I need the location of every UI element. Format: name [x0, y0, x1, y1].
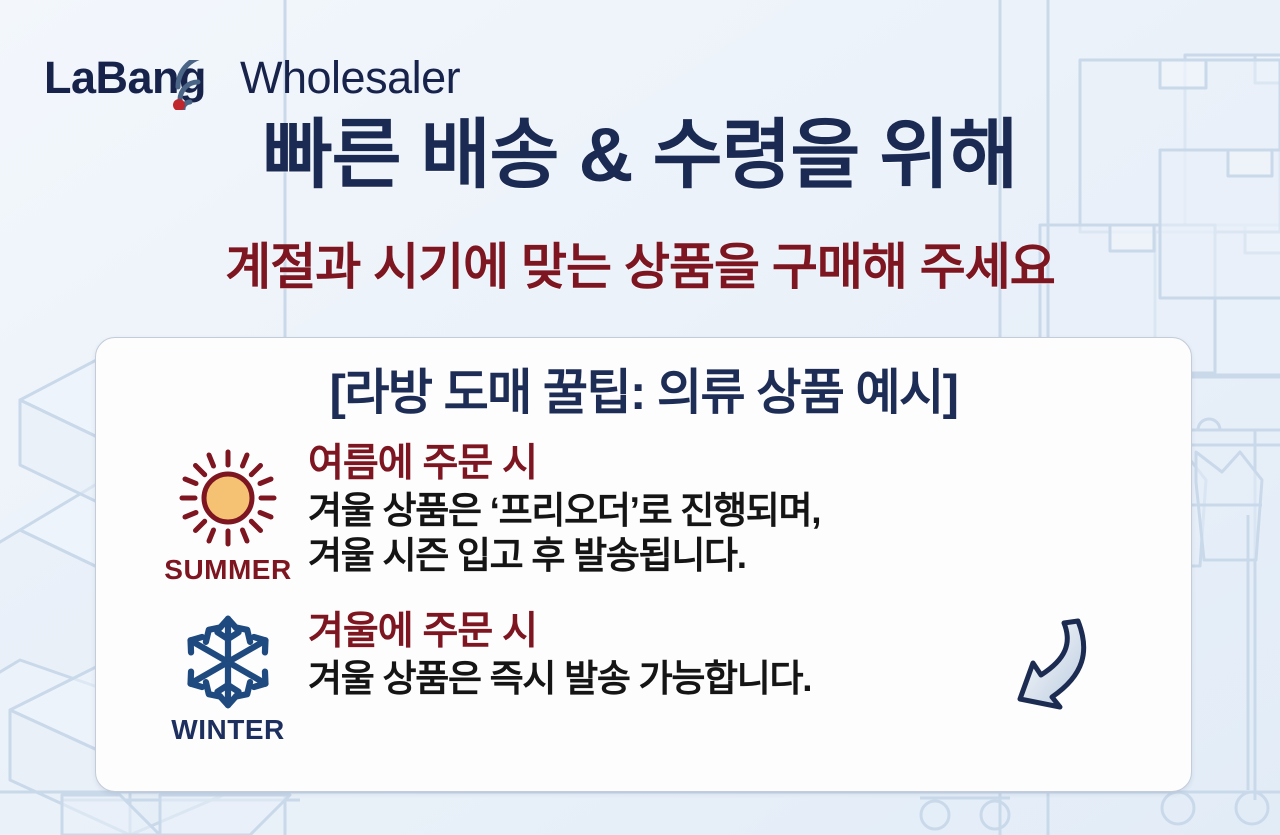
season-badge-winter: WINTER: [148, 608, 308, 744]
carton-row-top: [1040, 55, 1280, 375]
card-title: [라방 도매 꿀팁: 의류 상품 예시]: [96, 369, 1191, 418]
bottom-cart: [62, 798, 1010, 829]
brand-logo[interactable]: LaBangWholesaler: [44, 40, 460, 100]
season-text-summer: 겨울 상품은 ‘프리오더’로 진행되며, 겨울 시즌 입고 후 발송됩니다.: [308, 488, 820, 578]
snowflake-icon: [180, 614, 276, 710]
season-heading-winter: 겨울에 주문 시: [308, 610, 811, 654]
brand-name-light: Wholesaler: [240, 52, 460, 103]
curved-arrow-down-left-icon: [1010, 615, 1100, 720]
season-text-summer-line-2: 겨울 시즌 입고 후 발송됩니다.: [308, 533, 820, 578]
season-body-summer: 여름에 주문 시 겨울 상품은 ‘프리오더’로 진행되며, 겨울 시즌 입고 후…: [308, 440, 820, 578]
season-badge-summer: SUMMER: [148, 440, 308, 584]
season-label-winter: WINTER: [171, 716, 284, 744]
sun-icon: [176, 446, 280, 550]
season-label-summer: SUMMER: [164, 556, 291, 584]
season-body-winter: 겨울에 주문 시 겨울 상품은 즉시 발송 가능합니다.: [308, 608, 811, 701]
poster-canvas: LaBangWholesaler 빠른 배송 & 수령을 위해 계절과 시기에 …: [0, 0, 1280, 835]
wifi-signal-icon: [170, 60, 232, 110]
season-text-winter: 겨울 상품은 즉시 발송 가능합니다.: [308, 656, 811, 701]
season-heading-summer: 여름에 주문 시: [308, 442, 820, 486]
page-title: 빠른 배송 & 수령을 위해: [0, 118, 1280, 194]
season-text-winter-line-1: 겨울 상품은 즉시 발송 가능합니다.: [308, 656, 811, 701]
logo-dot-icon: [173, 99, 185, 110]
season-text-summer-line-1: 겨울 상품은 ‘프리오더’로 진행되며,: [308, 488, 820, 533]
page-subtitle: 계절과 시기에 맞는 상품을 구매해 주세요: [0, 242, 1280, 292]
season-row-summer: SUMMER 여름에 주문 시 겨울 상품은 ‘프리오더’로 진행되며, 겨울 …: [148, 440, 1191, 584]
brand-name: LaBangWholesaler: [44, 55, 460, 100]
tips-card: [라방 도매 꿀팁: 의류 상품 예시]: [95, 337, 1192, 792]
bottom-panel: [62, 795, 290, 835]
